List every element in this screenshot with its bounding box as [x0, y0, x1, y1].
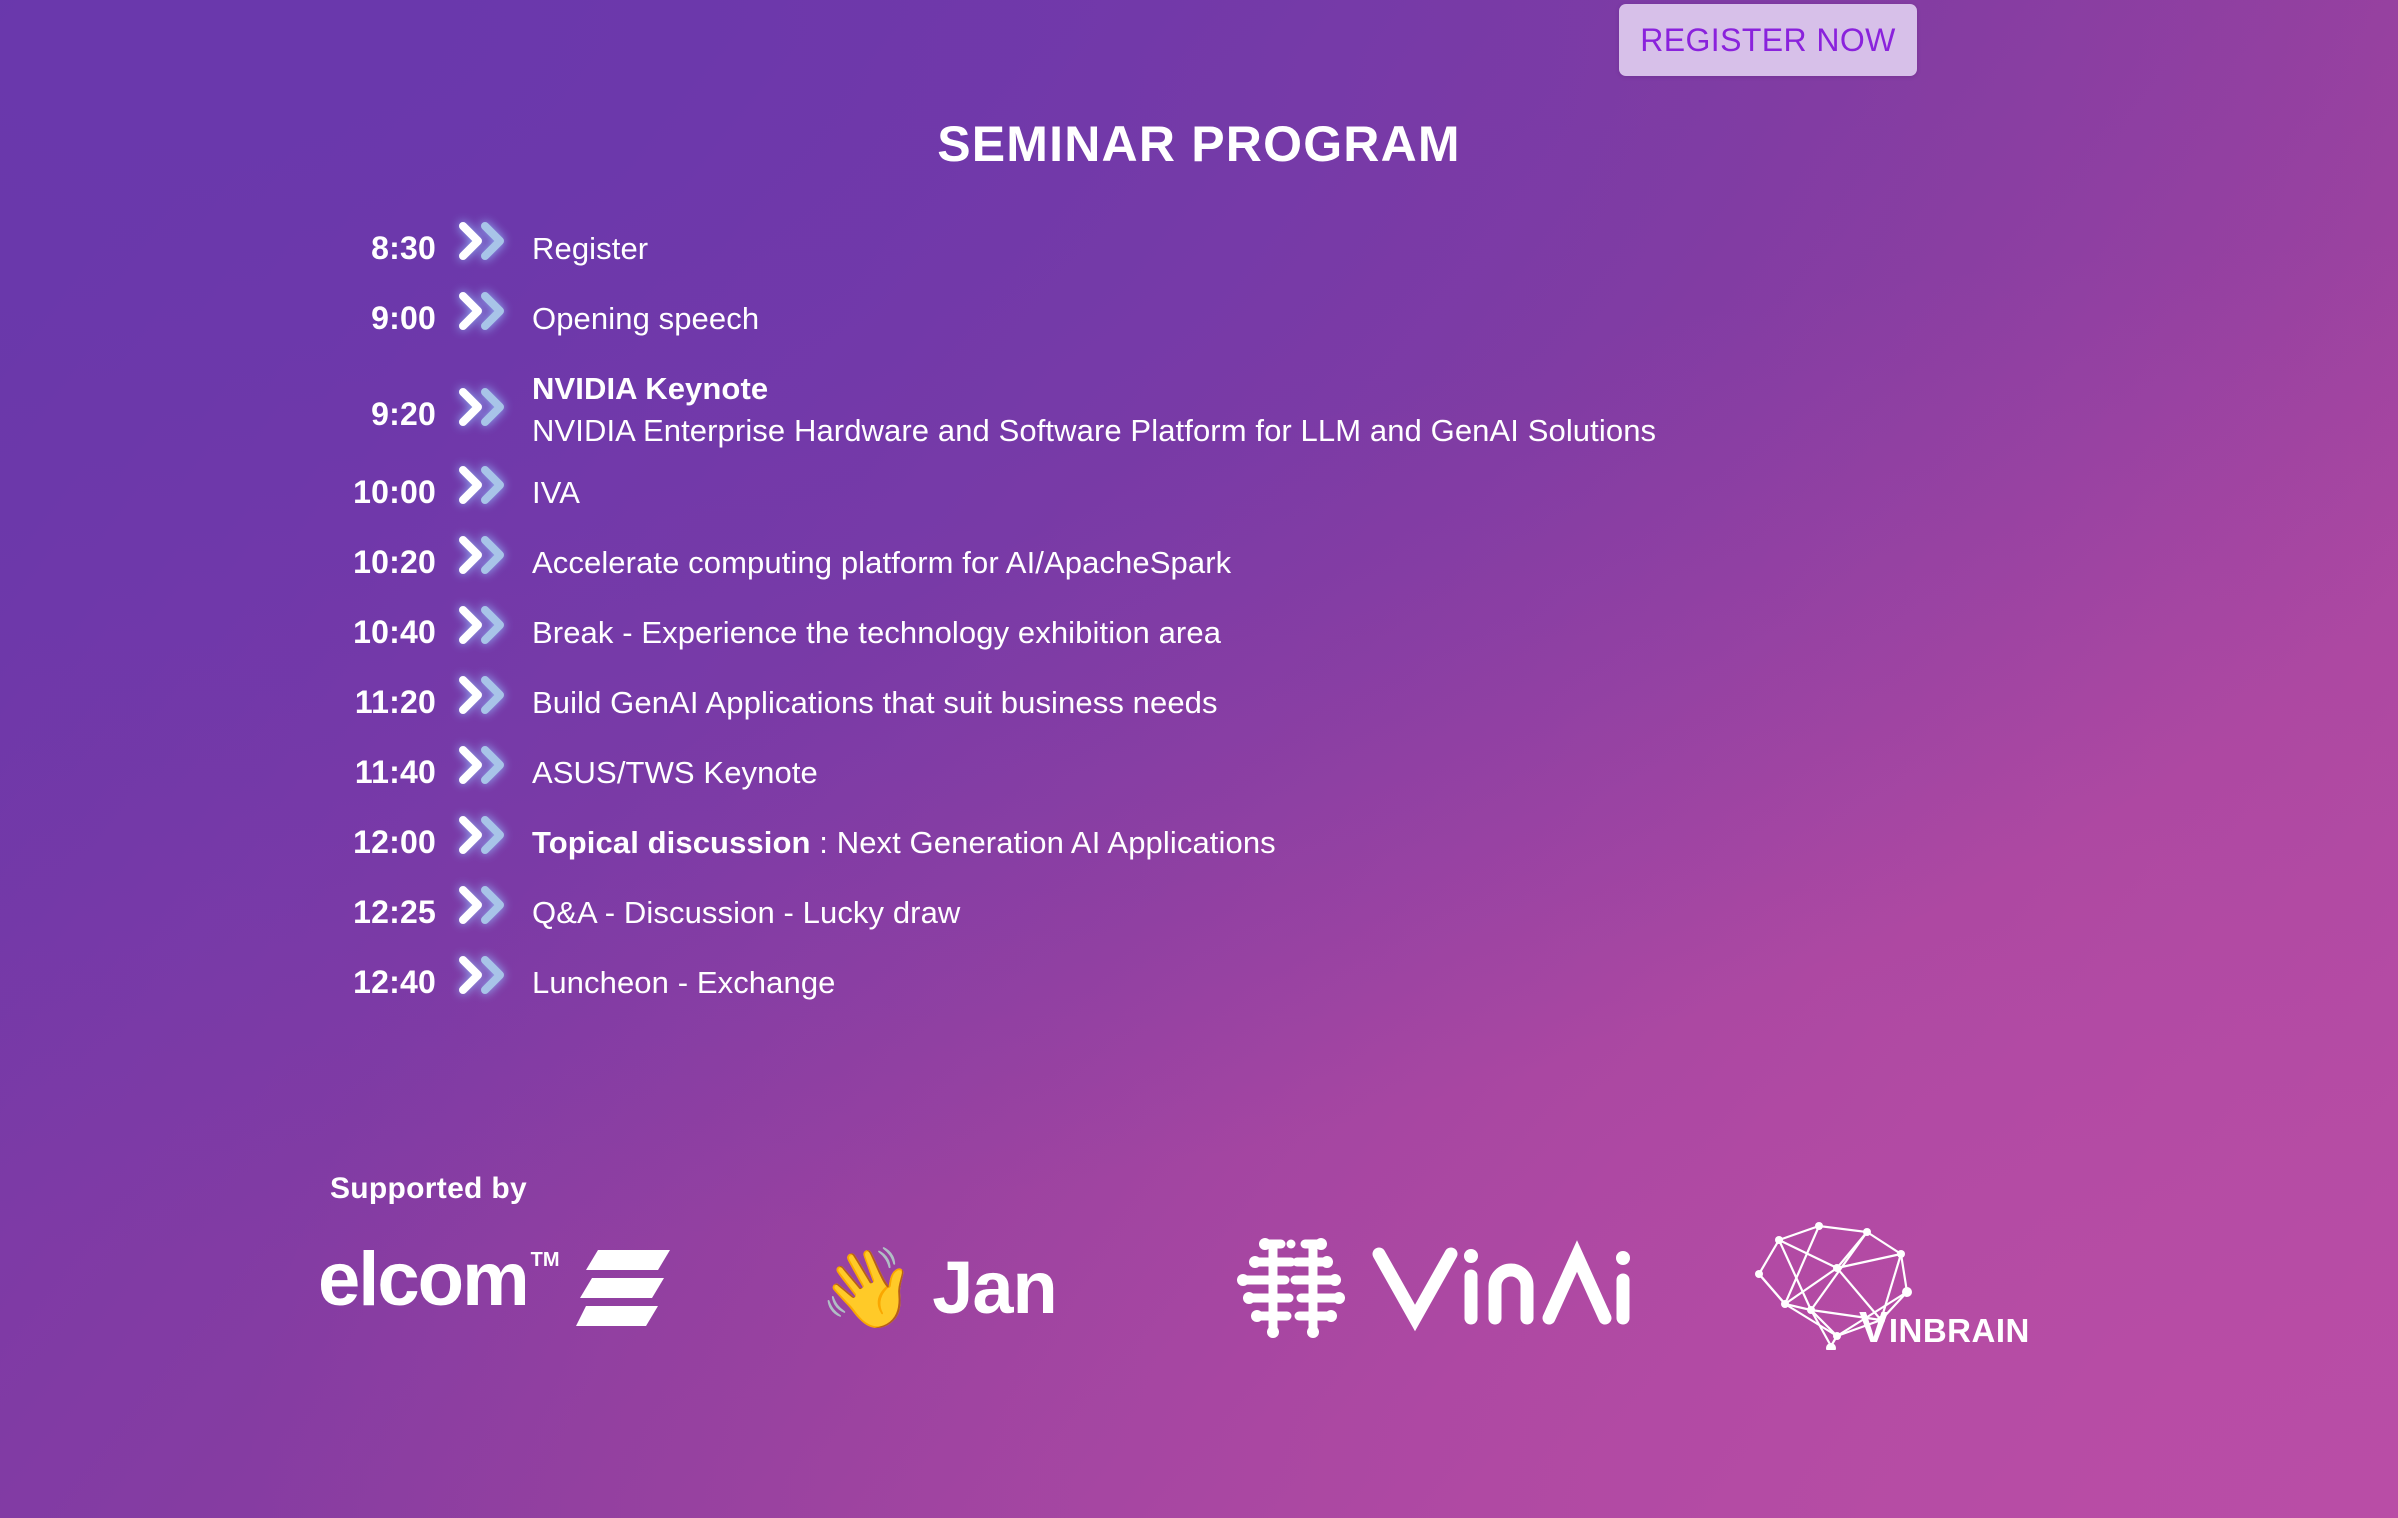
schedule-title: Accelerate computing platform for AI/Apa…	[532, 522, 2000, 584]
schedule-time: 12:25	[300, 872, 436, 928]
schedule-time: 12:40	[300, 942, 436, 998]
schedule-title-lead: Topical discussion	[532, 825, 811, 860]
schedule-row: 12:00 Topical discussion : Next Generati…	[300, 802, 2000, 872]
schedule-title: Luncheon - Exchange	[532, 942, 2000, 1004]
sponsor-logo-jan: 👋 Jan	[689, 1218, 1135, 1358]
vinai-nodes-icon	[1235, 1232, 1353, 1345]
schedule-row: 12:40 Luncheon - Exchange	[300, 942, 2000, 1012]
schedule-time: 11:40	[300, 732, 436, 788]
double-chevron-right-icon	[436, 872, 532, 924]
schedule-row: 9:20 NVIDIA Keynote NVIDIA Enterprise Ha…	[300, 348, 2000, 452]
schedule-row: 11:40 ASUS/TWS Keynote	[300, 732, 2000, 802]
vinbrain-wordmark-rest: INBRAIN	[1889, 1312, 2030, 1349]
schedule-row: 11:20 Build GenAI Applications that suit…	[300, 662, 2000, 732]
double-chevron-right-icon	[436, 348, 532, 426]
supported-by-label: Supported by	[330, 1172, 527, 1206]
schedule-title: Register	[532, 208, 2000, 270]
vinbrain-wordmark-lead: V	[1859, 1303, 1889, 1352]
vinai-wordmark	[1371, 1240, 1631, 1337]
schedule-row: 10:00 IVA	[300, 452, 2000, 522]
schedule-time: 8:30	[300, 208, 436, 264]
schedule-time: 10:00	[300, 452, 436, 508]
double-chevron-right-icon	[436, 522, 532, 574]
schedule-time: 10:40	[300, 592, 436, 648]
schedule-row: 12:25 Q&A - Discussion - Lucky draw	[300, 872, 2000, 942]
schedule-title: Build GenAI Applications that suit busin…	[532, 662, 2000, 724]
schedule-title: Break - Experience the technology exhibi…	[532, 592, 2000, 654]
schedule-time: 12:00	[300, 802, 436, 858]
double-chevron-right-icon	[436, 592, 532, 644]
double-chevron-right-icon	[436, 942, 532, 994]
schedule-time: 9:00	[300, 278, 436, 334]
double-chevron-right-icon	[436, 732, 532, 784]
trademark-icon: TM	[531, 1250, 560, 1270]
schedule-time: 9:20	[300, 348, 436, 430]
schedule-title-rest: : Next Generation AI Applications	[811, 825, 1276, 860]
schedule-row: 10:20 Accelerate computing platform for …	[300, 522, 2000, 592]
schedule-row: 10:40 Break - Experience the technology …	[300, 592, 2000, 662]
jan-wordmark: Jan	[932, 1251, 1057, 1325]
double-chevron-right-icon	[436, 208, 532, 260]
elcom-wordmark: elcom	[318, 1242, 528, 1318]
schedule-title: ASUS/TWS Keynote	[532, 732, 2000, 794]
schedule-entry: Topical discussion : Next Generation AI …	[532, 802, 2000, 864]
schedule-title: Opening speech	[532, 278, 2000, 340]
schedule-time: 11:20	[300, 662, 436, 718]
schedule-subtitle: NVIDIA Enterprise Hardware and Software …	[532, 410, 2000, 452]
waving-hand-icon: 👋	[819, 1249, 916, 1327]
schedule-entry: NVIDIA Keynote NVIDIA Enterprise Hardwar…	[532, 348, 2000, 452]
register-now-button[interactable]: REGISTER NOW	[1619, 4, 1917, 76]
double-chevron-right-icon	[436, 452, 532, 504]
seminar-program-slide: REGISTER NOW SEMINAR PROGRAM 8:30 Regist…	[0, 0, 2398, 1518]
double-chevron-right-icon	[436, 662, 532, 714]
sponsor-logo-vinbrain: VINBRAIN	[1631, 1218, 2120, 1358]
schedule-list: 8:30 Register 9:00 Opening speech 9:	[300, 208, 2000, 1012]
schedule-title: IVA	[532, 452, 2000, 514]
sponsor-logo-vinai	[1135, 1218, 1631, 1358]
sponsor-logo-elcom: elcom TM	[300, 1218, 689, 1358]
schedule-row: 9:00 Opening speech	[300, 278, 2000, 348]
elcom-e-mark-icon	[576, 1246, 672, 1335]
page-title: SEMINAR PROGRAM	[0, 115, 2398, 173]
schedule-time: 10:20	[300, 522, 436, 578]
schedule-row: 8:30 Register	[300, 208, 2000, 278]
double-chevron-right-icon	[436, 278, 532, 330]
vinbrain-wordmark: VINBRAIN	[1859, 1306, 2030, 1350]
sponsor-logos: elcom TM 👋 Jan	[300, 1218, 2120, 1358]
schedule-title: Q&A - Discussion - Lucky draw	[532, 872, 2000, 934]
double-chevron-right-icon	[436, 802, 532, 854]
schedule-title: NVIDIA Keynote	[532, 371, 768, 406]
